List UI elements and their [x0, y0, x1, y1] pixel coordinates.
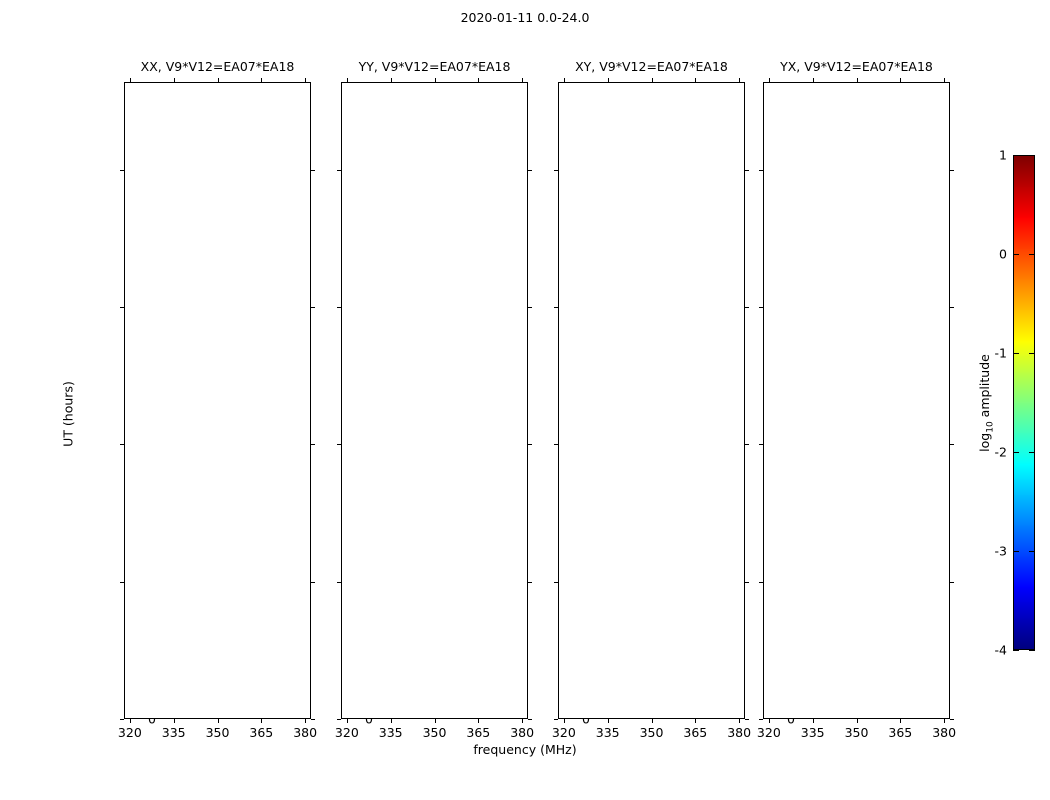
x-tick-label: 380 — [293, 725, 317, 740]
axes-frame — [763, 82, 950, 719]
x-tick — [305, 78, 306, 82]
colorbar-tick-label: 0 — [967, 247, 1007, 262]
x-tick-label: 335 — [162, 725, 186, 740]
axes-frame — [341, 82, 528, 719]
x-tick — [652, 78, 653, 82]
x-tick — [608, 78, 609, 82]
panel-xy: XY, V9*V12=EA07*EA18 — [558, 82, 745, 719]
y-tick — [950, 719, 954, 720]
y-tick — [311, 307, 315, 308]
y-tick — [528, 582, 532, 583]
y-tick — [759, 307, 763, 308]
x-tick-label: 320 — [335, 725, 359, 740]
x-tick — [695, 78, 696, 82]
colorbar-tick — [1013, 650, 1019, 651]
x-tick — [347, 719, 348, 723]
x-tick — [900, 719, 901, 723]
y-tick — [311, 444, 315, 445]
x-tick — [218, 719, 219, 723]
x-tick — [305, 719, 306, 723]
x-tick — [857, 78, 858, 82]
colorbar-tick-label: -3 — [967, 544, 1007, 559]
colorbar-tick — [1013, 155, 1019, 156]
colorbar-tick-label: 1 — [967, 148, 1007, 163]
y-tick — [554, 307, 558, 308]
y-tick — [337, 444, 341, 445]
y-tick — [745, 170, 749, 171]
x-tick — [652, 719, 653, 723]
colorbar-tick — [1013, 452, 1019, 453]
x-tick-label: 335 — [801, 725, 825, 740]
y-tick — [554, 582, 558, 583]
y-tick — [120, 719, 124, 720]
y-tick — [528, 307, 532, 308]
panel-title-xx: XX, V9*V12=EA07*EA18 — [124, 59, 311, 74]
x-tick — [261, 719, 262, 723]
colorbar-tick — [1029, 353, 1035, 354]
y-tick — [759, 444, 763, 445]
axes-frame — [124, 82, 311, 719]
x-tick — [695, 719, 696, 723]
x-tick — [522, 719, 523, 723]
x-tick-label: 350 — [845, 725, 869, 740]
x-tick — [769, 78, 770, 82]
y-tick — [554, 444, 558, 445]
x-tick-label: 350 — [423, 725, 447, 740]
x-tick-label: 365 — [888, 725, 912, 740]
x-tick — [391, 719, 392, 723]
x-tick-label: 380 — [932, 725, 956, 740]
x-tick — [564, 78, 565, 82]
y-tick — [759, 170, 763, 171]
colorbar-gradient — [1014, 156, 1034, 649]
y-tick — [120, 582, 124, 583]
x-tick-label: 320 — [118, 725, 142, 740]
y-tick — [337, 582, 341, 583]
x-tick — [522, 78, 523, 82]
colorbar-title: log10 amplitude — [977, 354, 996, 452]
axes-frame — [558, 82, 745, 719]
figure-suptitle: 2020-01-11 0.0-24.0 — [0, 10, 1050, 25]
y-tick — [337, 719, 341, 720]
y-tick — [745, 719, 749, 720]
y-tick — [528, 719, 532, 720]
x-tick-label: 380 — [727, 725, 751, 740]
x-tick — [218, 78, 219, 82]
x-tick-label: 335 — [596, 725, 620, 740]
y-tick — [311, 170, 315, 171]
x-tick — [813, 719, 814, 723]
colorbar-tick — [1029, 551, 1035, 552]
x-tick — [435, 78, 436, 82]
colorbar-tick — [1013, 254, 1019, 255]
x-tick — [347, 78, 348, 82]
panel-xx: XX, V9*V12=EA07*EA18 — [124, 82, 311, 719]
x-tick-label: 350 — [206, 725, 230, 740]
figure-canvas: 2020-01-11 0.0-24.0 32033535036538005101… — [0, 0, 1050, 800]
x-tick — [174, 719, 175, 723]
x-tick — [739, 719, 740, 723]
colorbar-tick-label: -4 — [967, 643, 1007, 658]
panel-yx: YX, V9*V12=EA07*EA18 — [763, 82, 950, 719]
x-tick — [857, 719, 858, 723]
colorbar-tick — [1013, 551, 1019, 552]
x-tick — [608, 719, 609, 723]
x-tick — [739, 78, 740, 82]
x-tick-label: 350 — [640, 725, 664, 740]
y-tick — [528, 170, 532, 171]
x-tick — [564, 719, 565, 723]
y-tick — [759, 719, 763, 720]
y-tick — [950, 307, 954, 308]
x-tick — [130, 78, 131, 82]
x-tick — [769, 719, 770, 723]
y-tick — [311, 582, 315, 583]
x-tick — [944, 78, 945, 82]
x-tick — [944, 719, 945, 723]
y-tick — [745, 307, 749, 308]
y-tick — [120, 170, 124, 171]
y-tick — [759, 582, 763, 583]
y-tick — [950, 444, 954, 445]
panel-title-xy: XY, V9*V12=EA07*EA18 — [558, 59, 745, 74]
x-tick-label: 365 — [249, 725, 273, 740]
x-tick — [435, 719, 436, 723]
colorbar — [1013, 155, 1035, 650]
colorbar-tick — [1029, 650, 1035, 651]
colorbar-tick — [1029, 452, 1035, 453]
panel-title-yy: YY, V9*V12=EA07*EA18 — [341, 59, 528, 74]
x-tick — [174, 78, 175, 82]
x-axis-title: frequency (MHz) — [0, 742, 1050, 757]
x-tick — [813, 78, 814, 82]
x-tick-label: 365 — [466, 725, 490, 740]
x-tick — [478, 719, 479, 723]
x-tick — [900, 78, 901, 82]
x-tick — [391, 78, 392, 82]
panel-title-yx: YX, V9*V12=EA07*EA18 — [763, 59, 950, 74]
y-tick — [950, 170, 954, 171]
x-tick-label: 365 — [683, 725, 707, 740]
colorbar-tick — [1029, 155, 1035, 156]
x-tick — [130, 719, 131, 723]
y-tick — [337, 170, 341, 171]
y-tick — [120, 307, 124, 308]
y-tick — [554, 170, 558, 171]
y-axis-title: UT (hours) — [61, 381, 76, 447]
panel-yy: YY, V9*V12=EA07*EA18 — [341, 82, 528, 719]
colorbar-tick — [1029, 254, 1035, 255]
y-tick — [554, 719, 558, 720]
y-tick — [311, 719, 315, 720]
y-tick — [337, 307, 341, 308]
x-tick-label: 335 — [379, 725, 403, 740]
x-tick — [261, 78, 262, 82]
x-tick-label: 320 — [757, 725, 781, 740]
y-tick — [528, 444, 532, 445]
x-tick — [478, 78, 479, 82]
y-tick — [745, 582, 749, 583]
x-tick-label: 380 — [510, 725, 534, 740]
y-tick — [120, 444, 124, 445]
x-tick-label: 320 — [552, 725, 576, 740]
y-tick — [950, 582, 954, 583]
colorbar-tick — [1013, 353, 1019, 354]
y-tick — [745, 444, 749, 445]
